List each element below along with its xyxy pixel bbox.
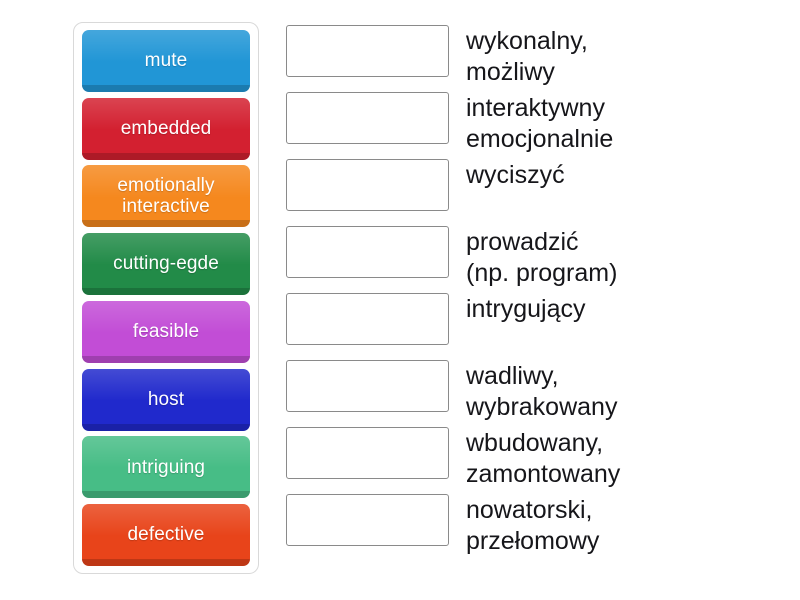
draggable-tile[interactable]: host [82, 369, 250, 431]
answer-row: wbudowany, zamontowany [286, 427, 786, 494]
drop-zone[interactable] [286, 159, 449, 211]
answer-row: prowadzić (np. program) [286, 226, 786, 293]
draggable-tile[interactable]: intriguing [82, 436, 250, 498]
drop-zone[interactable] [286, 25, 449, 77]
answer-text: interaktywny emocjonalnie [466, 92, 786, 154]
tile-label: intriguing [127, 457, 205, 478]
tile-label: defective [128, 524, 205, 545]
draggable-tile[interactable]: defective [82, 504, 250, 566]
draggable-tile[interactable]: emotionally interactive [82, 165, 250, 227]
draggable-tile[interactable]: cutting-egde [82, 233, 250, 295]
draggable-tile-panel: muteembeddedemotionally interactivecutti… [73, 22, 259, 574]
drop-zone[interactable] [286, 360, 449, 412]
drop-zone[interactable] [286, 293, 449, 345]
tile-label: host [148, 389, 184, 410]
tile-label: mute [145, 50, 188, 71]
answer-row: wadliwy, wybrakowany [286, 360, 786, 427]
answer-row: wykonalny, możliwy [286, 25, 786, 92]
answer-text: wyciszyć [466, 159, 786, 191]
tile-label: embedded [121, 118, 212, 139]
drop-zone[interactable] [286, 92, 449, 144]
answer-row: nowatorski, przełomowy [286, 494, 786, 561]
drop-zone[interactable] [286, 427, 449, 479]
answer-list: wykonalny, możliwyinteraktywny emocjonal… [286, 25, 786, 561]
answer-text: nowatorski, przełomowy [466, 494, 786, 556]
draggable-tile[interactable]: mute [82, 30, 250, 92]
answer-row: wyciszyć [286, 159, 786, 226]
drop-zone[interactable] [286, 226, 449, 278]
answer-row: intrygujący [286, 293, 786, 360]
answer-text: wadliwy, wybrakowany [466, 360, 786, 422]
tile-label: feasible [133, 321, 199, 342]
answer-text: wbudowany, zamontowany [466, 427, 786, 489]
tile-label: cutting-egde [113, 253, 219, 274]
answer-text: prowadzić (np. program) [466, 226, 786, 288]
answer-text: wykonalny, możliwy [466, 25, 786, 87]
tile-label: emotionally interactive [117, 175, 214, 218]
draggable-tile[interactable]: feasible [82, 301, 250, 363]
draggable-tile[interactable]: embedded [82, 98, 250, 160]
answer-text: intrygujący [466, 293, 786, 325]
answer-row: interaktywny emocjonalnie [286, 92, 786, 159]
drop-zone[interactable] [286, 494, 449, 546]
